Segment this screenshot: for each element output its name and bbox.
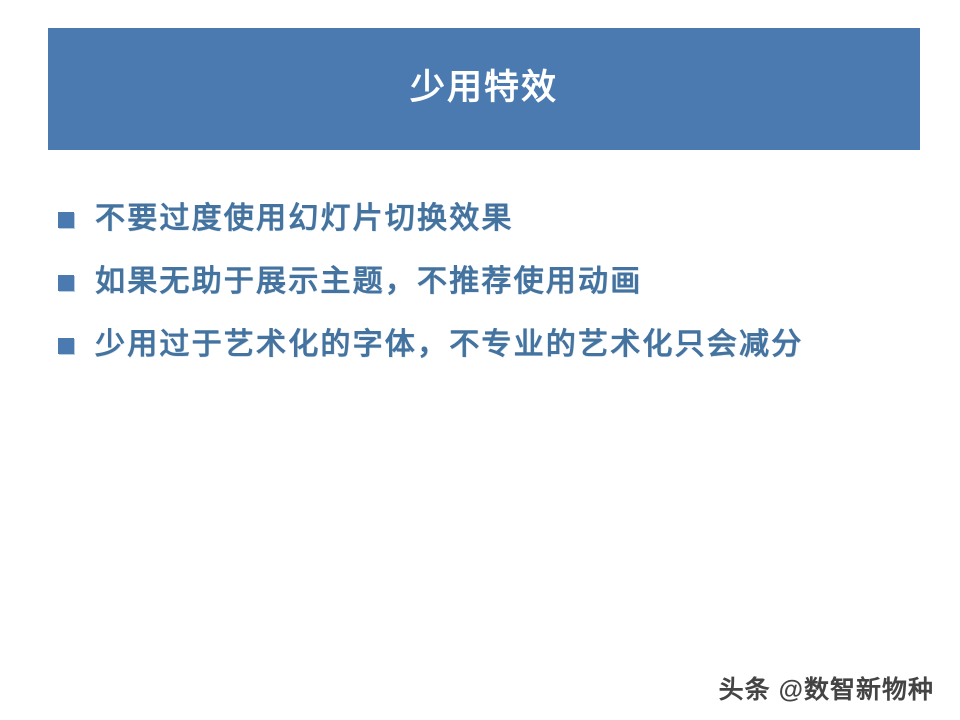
- list-item-label: 不要过度使用幻灯片切换效果: [95, 198, 514, 240]
- list-item-label: 少用过于艺术化的字体，不专业的艺术化只会减分: [95, 324, 803, 366]
- square-bullet-icon: [58, 275, 74, 291]
- watermark-label: 头条 @数智新物种: [719, 670, 934, 706]
- slide-canvas: 少用特效 不要过度使用幻灯片切换效果 如果无助于展示主题，不推荐使用动画 少用过…: [0, 0, 960, 720]
- square-bullet-icon: [58, 212, 74, 228]
- title-banner: 少用特效: [48, 28, 920, 150]
- list-item: 少用过于艺术化的字体，不专业的艺术化只会减分: [58, 324, 918, 387]
- list-item: 如果无助于展示主题，不推荐使用动画: [58, 261, 918, 324]
- square-bullet-icon: [58, 338, 74, 354]
- page-title: 少用特效: [410, 70, 558, 105]
- bullet-list: 不要过度使用幻灯片切换效果 如果无助于展示主题，不推荐使用动画 少用过于艺术化的…: [58, 198, 918, 387]
- list-item: 不要过度使用幻灯片切换效果: [58, 198, 918, 261]
- list-item-label: 如果无助于展示主题，不推荐使用动画: [95, 261, 642, 303]
